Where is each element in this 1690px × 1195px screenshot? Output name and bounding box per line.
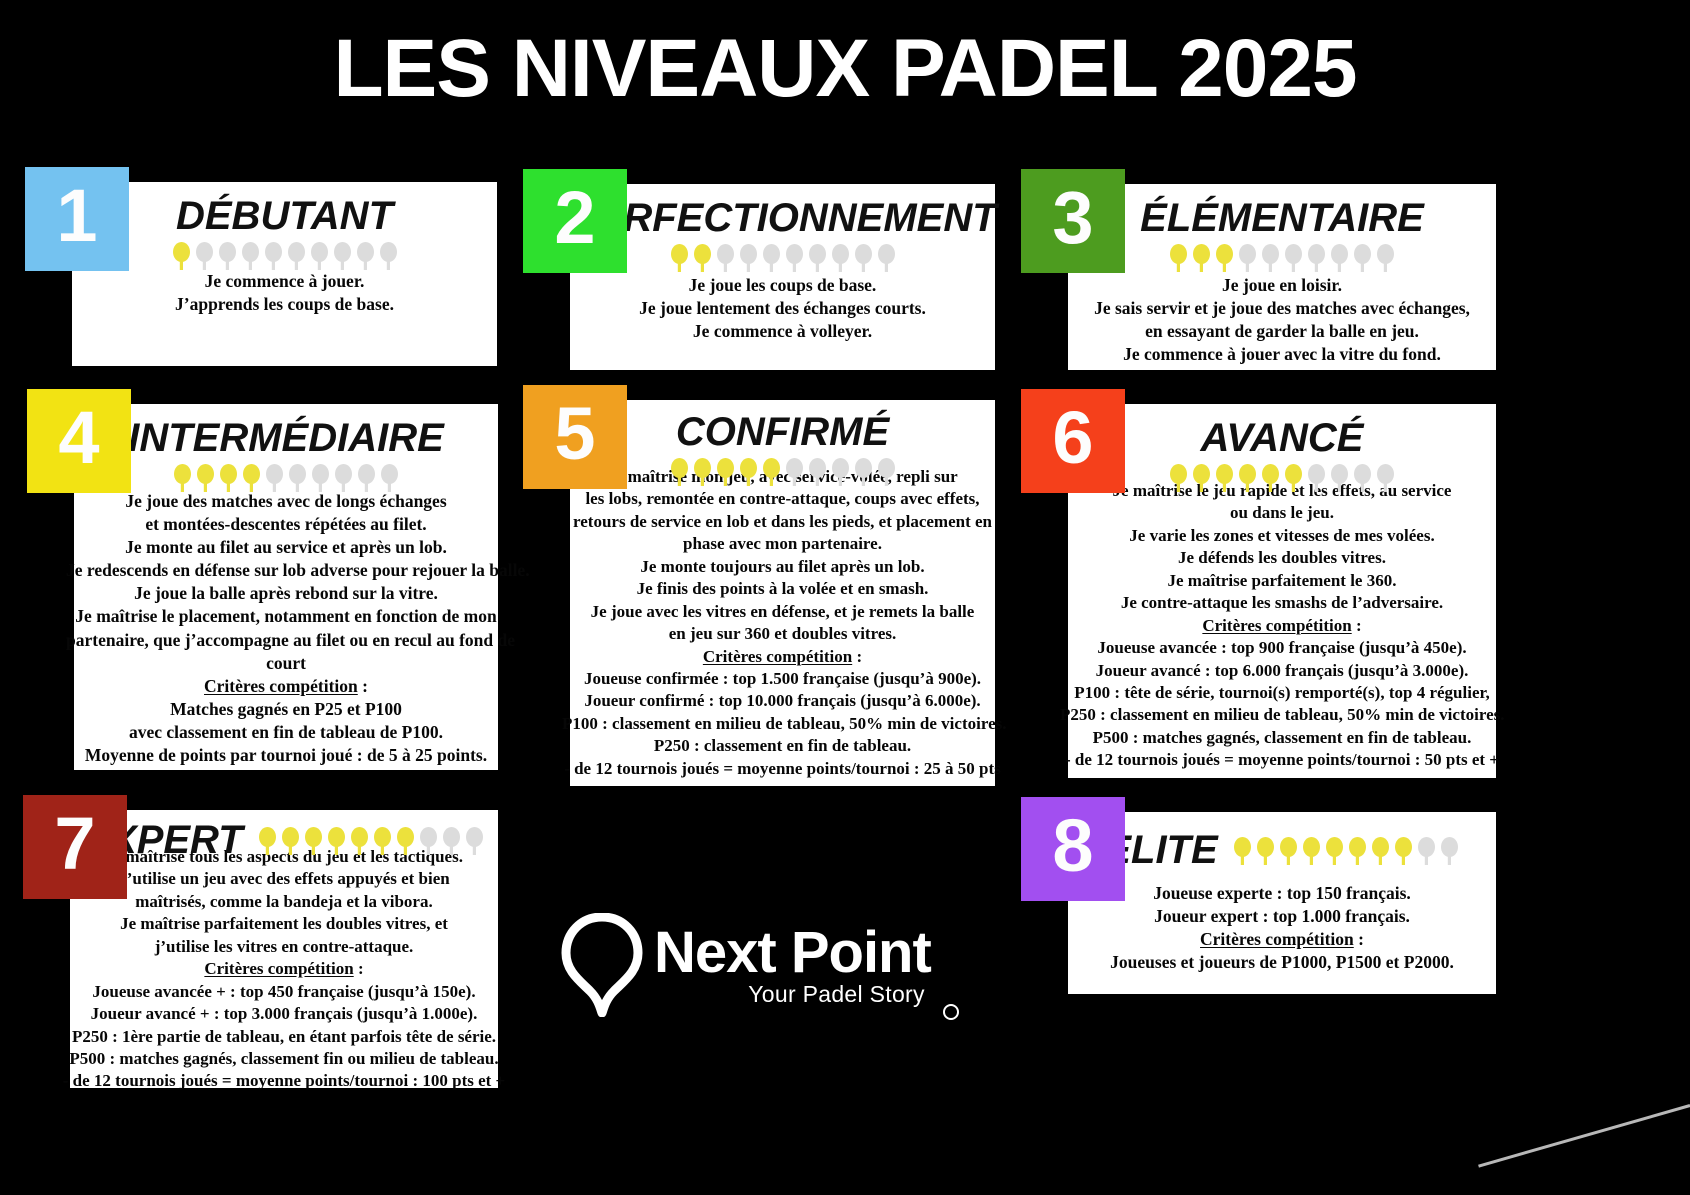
level-number: 5	[554, 397, 595, 471]
brand-text: Next Point Your Padel Story	[654, 923, 931, 1007]
level-description-line: Joueur expert : top 1.000 français.	[1060, 905, 1504, 928]
criteria-line: P250 : 1ère partie de tableau, en étant …	[62, 1026, 506, 1048]
racket-icon-10	[464, 826, 485, 856]
racket-icon-4	[326, 826, 347, 856]
level-number-badge: 2	[523, 169, 627, 273]
racket-icon-7	[1306, 243, 1327, 273]
racket-icon-4	[1301, 836, 1322, 866]
racket-icon-9	[356, 463, 377, 493]
racket-icon-5	[264, 463, 285, 493]
racket-icon-1	[1168, 463, 1189, 493]
criteria-heading: Critères compétition :	[1060, 928, 1504, 951]
racket-icon-5	[349, 826, 370, 856]
level-description-line: ou dans le jeu.	[1060, 502, 1504, 524]
criteria-line: P250 : classement en fin de tableau.	[562, 735, 1003, 757]
level-description-line: j’utilise les vitres en contre-attaque.	[62, 936, 506, 958]
racket-icon-2	[692, 457, 713, 487]
level-description-line: Je défends les doubles vitres.	[1060, 547, 1504, 569]
racket-icon-7	[395, 826, 416, 856]
criteria-line: - de 12 tournois joués = moyenne points/…	[1060, 749, 1504, 771]
level-body: Je maîtrise mon jeu, avec service-volée,…	[562, 466, 1003, 780]
level-card-5: 5CONFIRMÉJe maîtrise mon jeu, avec servi…	[570, 400, 995, 786]
level-title: DÉBUTANT	[72, 194, 497, 239]
level-header: CONFIRMÉ	[570, 410, 995, 487]
racket-icon-1	[1232, 836, 1253, 866]
racket-icon-6	[784, 457, 805, 487]
racket-icon-4	[240, 241, 261, 271]
level-description-line: J’utilise un jeu avec des effets appuyés…	[62, 868, 506, 890]
level-number: 6	[1052, 401, 1093, 475]
level-header: DÉBUTANT	[72, 194, 497, 271]
padel-ball-icon	[943, 1004, 959, 1020]
level-description-line: Je contre-attaque les smashs de l’advers…	[1060, 592, 1504, 614]
racket-icon-1	[171, 241, 192, 271]
level-header: INTERMÉDIAIRE	[74, 416, 498, 493]
level-body: Je maîtrise le jeu rapide et les effets,…	[1060, 480, 1504, 772]
racket-icon-1	[172, 463, 193, 493]
level-number: 8	[1052, 809, 1093, 883]
level-description-line: Je monte toujours au filet après un lob.	[562, 556, 1003, 578]
racket-icon-3	[1214, 243, 1235, 273]
racket-icon-6	[372, 826, 393, 856]
racket-icon-2	[1191, 463, 1212, 493]
level-description-line: Je joue avec les vitres en défense, et j…	[562, 601, 1003, 623]
criteria-line: P250 : classement en milieu de tableau, …	[1060, 704, 1504, 726]
criteria-line: Joueuse avancée : top 900 française (jus…	[1060, 637, 1504, 659]
racket-icon-5	[761, 457, 782, 487]
level-number-badge: 1	[25, 167, 129, 271]
level-header: ELITE	[1068, 828, 1496, 873]
racket-icon-8	[1329, 243, 1350, 273]
level-description-line: Je maîtrise parfaitement le 360.	[1060, 570, 1504, 592]
level-description-line: en essayant de garder la balle en jeu.	[1060, 320, 1504, 343]
racket-icon-4	[738, 457, 759, 487]
level-number-badge: 8	[1021, 797, 1125, 901]
level-body: Joueuse experte : top 150 français.Joueu…	[1060, 882, 1504, 974]
level-title: INTERMÉDIAIRE	[74, 416, 498, 461]
racket-icon-2	[692, 243, 713, 273]
racket-icon-10	[876, 243, 897, 273]
racket-icon-3	[1214, 463, 1235, 493]
racket-icon-3	[303, 826, 324, 856]
level-body: Je joue en loisir.Je sais servir et je j…	[1060, 274, 1504, 366]
level-number-badge: 7	[23, 795, 127, 899]
racket-icon-7	[807, 243, 828, 273]
racket-icon-10	[379, 463, 400, 493]
level-header: AVANCÉ	[1068, 416, 1496, 493]
racket-icon-8	[418, 826, 439, 856]
level-description-line: Joueuse experte : top 150 français.	[1060, 882, 1504, 905]
criteria-line: - de 12 tournois joués = moyenne points/…	[562, 758, 1003, 780]
padel-levels-poster: LES NIVEAUX PADEL 2025 1DÉBUTANTJe comme…	[0, 0, 1690, 1195]
criteria-heading: Critères compétition :	[66, 675, 506, 698]
racket-icon-5	[761, 243, 782, 273]
level-card-3: 3ÉLÉMENTAIREJe joue en loisir.Je sais se…	[1068, 184, 1496, 370]
level-header: EXPERT	[70, 818, 498, 863]
level-card-1: 1DÉBUTANTJe commence à jouer.J’apprends …	[72, 182, 497, 366]
criteria-line: Matches gagnés en P25 et P100	[66, 698, 506, 721]
level-number: 3	[1052, 181, 1093, 255]
racket-icon-7	[310, 463, 331, 493]
level-card-2: 2PERFECTIONNEMENTJe joue les coups de ba…	[570, 184, 995, 370]
racket-icon-10	[378, 241, 399, 271]
racket-icon-8	[1329, 463, 1350, 493]
level-description-line: Je sais servir et je joue des matches av…	[1060, 297, 1504, 320]
level-description-line: Je maîtrise parfaitement les doubles vit…	[62, 913, 506, 935]
racket-icon-1	[1168, 243, 1189, 273]
racket-icon-4	[1237, 243, 1258, 273]
criteria-line: Joueuse avancée + : top 450 française (j…	[62, 981, 506, 1003]
level-description-line: Je joue en loisir.	[1060, 274, 1504, 297]
level-description-line: Je joue lentement des échanges courts.	[562, 297, 1003, 320]
racket-icon-8	[830, 243, 851, 273]
racket-icon-3	[715, 457, 736, 487]
level-header: PERFECTIONNEMENT	[570, 196, 995, 273]
racket-icon-7	[1370, 836, 1391, 866]
level-title: ÉLÉMENTAIRE	[1068, 196, 1496, 241]
racket-icon-6	[1283, 463, 1304, 493]
level-number: 7	[54, 807, 95, 881]
level-rating-rackets	[570, 457, 995, 487]
page-title: LES NIVEAUX PADEL 2025	[0, 22, 1690, 116]
racket-icon-8	[333, 463, 354, 493]
level-description-line: Je maîtrise le placement, notamment en f…	[66, 605, 506, 628]
level-title: CONFIRMÉ	[570, 410, 995, 455]
level-rating-rackets	[570, 243, 995, 273]
racket-icon-8	[830, 457, 851, 487]
criteria-line: Joueur confirmé : top 10.000 français (j…	[562, 690, 1003, 712]
level-description-line: Je finis des points à la volée et en sma…	[562, 578, 1003, 600]
level-title: PERFECTIONNEMENT	[570, 196, 995, 241]
racket-icon-5	[1260, 463, 1281, 493]
racket-icon-10	[1439, 836, 1460, 866]
criteria-line: P500 : matches gagnés, classement fin ou…	[62, 1048, 506, 1070]
racket-icon-10	[876, 457, 897, 487]
racket-icon-9	[355, 241, 376, 271]
level-card-7: 7EXPERTJe maîtrise tous les aspects du j…	[70, 810, 498, 1088]
criteria-heading: Critères compétition :	[62, 958, 506, 980]
level-description-line: court	[66, 652, 506, 675]
level-rating-rackets	[72, 241, 497, 271]
level-card-4: 4INTERMÉDIAIREJe joue des matches avec d…	[74, 404, 498, 770]
level-description-line: maîtrisés, comme la bandeja et la vibora…	[62, 891, 506, 913]
racket-icon-8	[332, 241, 353, 271]
level-body: Je joue les coups de base.Je joue lentem…	[562, 274, 1003, 343]
racket-icon-4	[738, 243, 759, 273]
racket-icon-7	[309, 241, 330, 271]
level-description-line: en jeu sur 360 et doubles vitres.	[562, 623, 1003, 645]
level-title: AVANCÉ	[1068, 416, 1496, 461]
level-rating-rackets	[1232, 836, 1460, 866]
racket-icon-9	[1352, 463, 1373, 493]
racket-icon-5	[1324, 836, 1345, 866]
criteria-heading: Critères compétition :	[562, 646, 1003, 668]
level-rating-rackets	[257, 826, 485, 856]
level-body: Je commence à jouer.J’apprends les coups…	[64, 270, 505, 316]
level-number: 2	[554, 181, 595, 255]
level-description-line: Je joue les coups de base.	[562, 274, 1003, 297]
racket-icon-8	[1393, 836, 1414, 866]
racket-icon-1	[669, 243, 690, 273]
racket-icon-9	[853, 457, 874, 487]
level-number-badge: 3	[1021, 169, 1125, 273]
racket-icon-6	[784, 243, 805, 273]
racket-icon-2	[280, 826, 301, 856]
criteria-line: Joueuses et joueurs de P1000, P1500 et P…	[1060, 951, 1504, 974]
racket-icon-6	[286, 241, 307, 271]
level-number-badge: 4	[27, 389, 131, 493]
level-rating-rackets	[1068, 243, 1496, 273]
brand-tagline: Your Padel Story	[654, 982, 931, 1007]
level-description-line: Je monte au filet au service et après un…	[66, 536, 506, 559]
racket-icon-6	[287, 463, 308, 493]
racket-icon-2	[1191, 243, 1212, 273]
location-pin-icon	[560, 913, 644, 1017]
level-number-badge: 6	[1021, 389, 1125, 493]
level-rating-rackets	[1068, 463, 1496, 493]
racket-icon-6	[1283, 243, 1304, 273]
level-description-line: Je joue des matches avec de longs échang…	[66, 490, 506, 513]
racket-icon-5	[1260, 243, 1281, 273]
racket-icon-7	[807, 457, 828, 487]
racket-icon-2	[1255, 836, 1276, 866]
criteria-line: Joueur avancé + : top 3.000 français (ju…	[62, 1003, 506, 1025]
level-description-line: partenaire, que j’accompagne au filet ou…	[66, 629, 506, 652]
racket-icon-9	[853, 243, 874, 273]
racket-icon-3	[218, 463, 239, 493]
level-description-line: Je commence à volleyer.	[562, 320, 1003, 343]
brand-name: Next Point	[654, 923, 931, 982]
brand-logo: Next Point Your Padel Story	[560, 900, 1010, 1030]
level-body: Je maîtrise tous les aspects du jeu et l…	[62, 846, 506, 1093]
level-description-line: Je joue la balle après rebond sur la vit…	[66, 582, 506, 605]
racket-icon-5	[263, 241, 284, 271]
level-description-line: phase avec mon partenaire.	[562, 533, 1003, 555]
level-description-line: J’apprends les coups de base.	[64, 293, 505, 316]
criteria-line: Joueuse confirmée : top 1.500 française …	[562, 668, 1003, 690]
level-rating-rackets	[74, 463, 498, 493]
racket-icon-6	[1347, 836, 1368, 866]
racket-icon-10	[1375, 463, 1396, 493]
racket-icon-9	[1416, 836, 1437, 866]
level-description-line: Je redescends en défense sur lob adverse…	[66, 559, 506, 582]
level-description-line: Je commence à jouer.	[64, 270, 505, 293]
criteria-line: avec classement en fin de tableau de P10…	[66, 721, 506, 744]
racket-icon-2	[195, 463, 216, 493]
criteria-line: Joueur avancé : top 6.000 français (jusq…	[1060, 660, 1504, 682]
criteria-line: P100 : classement en milieu de tableau, …	[562, 713, 1003, 735]
level-description-line: les lobs, remontée en contre-attaque, co…	[562, 488, 1003, 510]
level-description-line: Je varie les zones et vitesses de mes vo…	[1060, 525, 1504, 547]
level-description-line: et montées-descentes répétées au filet.	[66, 513, 506, 536]
racket-icon-4	[1237, 463, 1258, 493]
racket-icon-7	[1306, 463, 1327, 493]
racket-icon-10	[1375, 243, 1396, 273]
racket-icon-9	[441, 826, 462, 856]
corner-streak	[1478, 1104, 1690, 1168]
level-card-8: 8ELITEJoueuse experte : top 150 français…	[1068, 812, 1496, 994]
criteria-line: - de 12 tournois joués = moyenne points/…	[62, 1070, 506, 1092]
criteria-line: P100 : tête de série, tournoi(s) remport…	[1060, 682, 1504, 704]
level-description-line: retours de service en lob et dans les pi…	[562, 511, 1003, 533]
level-description-line: Je commence à jouer avec la vitre du fon…	[1060, 343, 1504, 366]
criteria-line: P500 : matches gagnés, classement en fin…	[1060, 727, 1504, 749]
level-card-6: 6AVANCÉJe maîtrise le jeu rapide et les …	[1068, 404, 1496, 778]
criteria-heading: Critères compétition :	[1060, 615, 1504, 637]
racket-icon-3	[715, 243, 736, 273]
racket-icon-9	[1352, 243, 1373, 273]
level-body: Je joue des matches avec de longs échang…	[66, 490, 506, 767]
racket-icon-3	[1278, 836, 1299, 866]
level-number-badge: 5	[523, 385, 627, 489]
racket-icon-4	[241, 463, 262, 493]
criteria-line: Moyenne de points par tournoi joué : de …	[66, 744, 506, 767]
racket-icon-2	[194, 241, 215, 271]
level-number: 4	[58, 401, 99, 475]
level-number: 1	[56, 179, 97, 253]
racket-icon-1	[669, 457, 690, 487]
racket-icon-3	[217, 241, 238, 271]
racket-icon-1	[257, 826, 278, 856]
level-header: ÉLÉMENTAIRE	[1068, 196, 1496, 273]
